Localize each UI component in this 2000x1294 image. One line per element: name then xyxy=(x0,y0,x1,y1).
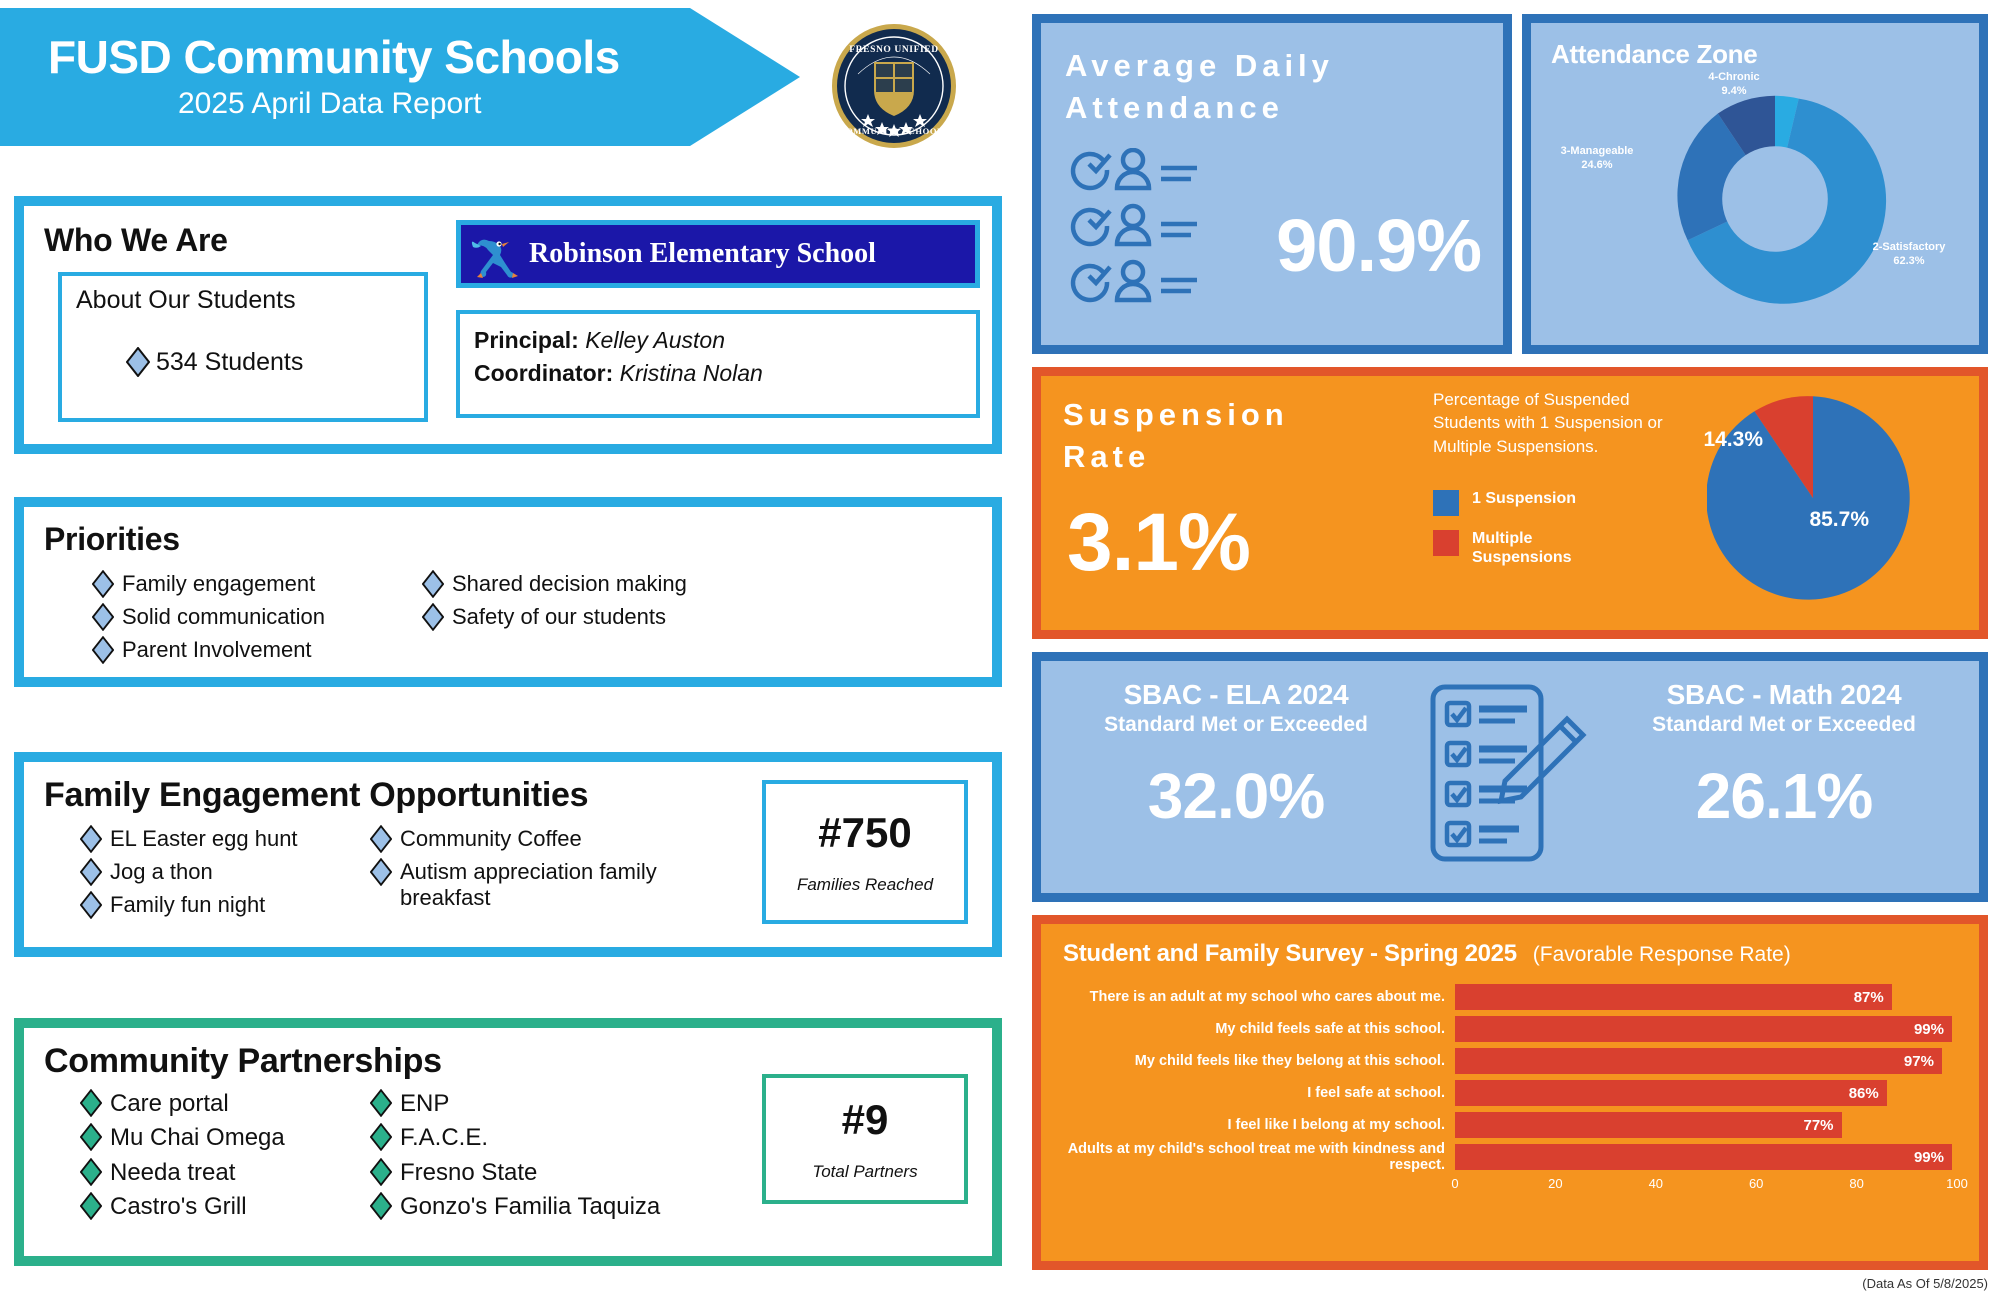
diamond-bullet-icon xyxy=(80,891,102,919)
axis-tick: 40 xyxy=(1649,1176,1663,1191)
attendance-zone-panel: Attendance Zone 4-Chronic 9.4% 3-Managea… xyxy=(1522,14,1988,354)
community-partnerships-card: Community Partnerships Care portal Mu Ch… xyxy=(14,1018,1002,1266)
ada-title-line2: Attendance xyxy=(1065,87,1479,129)
total-partners-number: #9 xyxy=(842,1096,889,1144)
survey-bar-value: 77% xyxy=(1804,1117,1834,1134)
family-engagement-col-2: Community Coffee Autism appreciation fam… xyxy=(370,825,700,924)
diamond-bullet-icon xyxy=(80,1192,102,1220)
list-item: ENP xyxy=(370,1089,730,1118)
list-item-label: Care portal xyxy=(110,1089,229,1118)
diamond-bullet-icon xyxy=(92,570,114,598)
survey-bar-value: 97% xyxy=(1904,1053,1934,1070)
list-item: Family fun night xyxy=(80,891,370,919)
zone-label-manageable: 3-Manageable 24.6% xyxy=(1541,145,1653,173)
diamond-bullet-icon xyxy=(422,570,444,598)
header-banner: FUSD Community Schools 2025 April Data R… xyxy=(0,8,800,146)
survey-question-label: My child feels safe at this school. xyxy=(1055,1021,1455,1037)
data-as-of-footnote: (Data As Of 5/8/2025) xyxy=(1862,1276,1988,1291)
about-our-students-label: About Our Students xyxy=(76,286,410,315)
survey-bar: 99% xyxy=(1455,1016,1952,1042)
diamond-bullet-icon xyxy=(92,636,114,664)
attendance-zone-title: Attendance Zone xyxy=(1551,39,1959,70)
suspension-description: Percentage of Suspended Students with 1 … xyxy=(1433,388,1683,458)
diamond-bullet-icon xyxy=(80,825,102,853)
partnerships-col-1: Care portal Mu Chai Omega Needa treat Ca… xyxy=(80,1089,370,1226)
list-item-label: Needa treat xyxy=(110,1158,235,1187)
list-item: EL Easter egg hunt xyxy=(80,825,370,853)
legend-swatch-1-suspension xyxy=(1433,490,1459,516)
suspension-rate-value: 3.1% xyxy=(1067,496,1250,590)
list-item: Mu Chai Omega xyxy=(80,1123,370,1152)
axis-tick: 60 xyxy=(1749,1176,1763,1191)
list-item-label: Mu Chai Omega xyxy=(110,1123,285,1152)
survey-bar: 97% xyxy=(1455,1048,1942,1074)
suspension-description-block: Percentage of Suspended Students with 1 … xyxy=(1433,388,1683,568)
survey-bar-track: 99% xyxy=(1455,1144,1957,1170)
survey-header: Student and Family Survey - Spring 2025 … xyxy=(1055,940,1957,968)
list-item-label: Gonzo's Familia Taquiza xyxy=(400,1192,660,1221)
principal-coordinator-box: Principal: Kelley Auston Coordinator: Kr… xyxy=(456,310,980,418)
list-item-label: Jog a thon xyxy=(110,858,213,885)
survey-bar-track: 86% xyxy=(1455,1080,1957,1106)
about-our-students-box: About Our Students 534 Students xyxy=(58,272,428,422)
sbac-math-block: SBAC - Math 2024 Standard Met or Exceede… xyxy=(1605,679,1963,833)
diamond-bullet-icon xyxy=(370,1089,392,1117)
diamond-bullet-icon xyxy=(80,1123,102,1151)
list-item-label: Shared decision making xyxy=(452,570,687,597)
principal-name: Kelley Auston xyxy=(585,327,725,353)
zone-value-manageable: 24.6% xyxy=(1541,159,1653,173)
suspension-pie-chart xyxy=(1707,392,1919,604)
zone-label-satisfactory: 2-Satisfactory 62.3% xyxy=(1849,241,1969,269)
survey-question-label: Adults at my child's school treat me wit… xyxy=(1055,1141,1455,1173)
list-item: Family engagement xyxy=(92,570,422,598)
zone-label-chronic: 4-Chronic 9.4% xyxy=(1679,71,1789,99)
list-item-label: Parent Involvement xyxy=(122,636,312,663)
list-item: Shared decision making xyxy=(422,570,752,598)
diamond-bullet-icon xyxy=(370,1192,392,1220)
survey-question-label: My child feels like they belong at this … xyxy=(1055,1053,1455,1069)
zone-label-manageable-text: 3-Manageable xyxy=(1541,145,1653,159)
legend-label-multiple-suspensions: Multiple Suspensions xyxy=(1472,530,1602,568)
diamond-bullet-icon xyxy=(370,1158,392,1186)
sbac-ela-title: SBAC - ELA 2024 xyxy=(1057,679,1415,711)
list-item-label: Family fun night xyxy=(110,891,265,918)
list-item: Castro's Grill xyxy=(80,1192,370,1221)
table-row: There is an adult at my school who cares… xyxy=(1055,984,1957,1010)
survey-bar-chart: There is an adult at my school who cares… xyxy=(1055,984,1957,1194)
coordinator-row: Coordinator: Kristina Nolan xyxy=(474,357,962,390)
list-item: Fresno State xyxy=(370,1158,730,1187)
survey-bar: 77% xyxy=(1455,1112,1842,1138)
student-count-item: 534 Students xyxy=(126,347,410,378)
table-row: My child feels like they belong at this … xyxy=(1055,1048,1957,1074)
roadrunner-mascot-icon xyxy=(471,233,525,285)
total-partners-label: Total Partners xyxy=(812,1162,917,1182)
attendance-checklist-icon xyxy=(1067,148,1227,328)
survey-bar-track: 97% xyxy=(1455,1048,1957,1074)
zone-value-satisfactory: 62.3% xyxy=(1849,255,1969,269)
list-item: Community Coffee xyxy=(370,825,700,853)
diamond-bullet-icon xyxy=(370,1123,392,1151)
legend-label-1-suspension: 1 Suspension xyxy=(1472,490,1576,509)
sbac-ela-value: 32.0% xyxy=(1057,759,1415,833)
sbac-math-value: 26.1% xyxy=(1605,759,1963,833)
list-item: Autism appreciation family breakfast xyxy=(370,858,700,911)
page-subtitle: 2025 April Data Report xyxy=(48,87,800,121)
list-item-label: Autism appreciation family breakfast xyxy=(400,858,690,911)
survey-bar-track: 87% xyxy=(1455,984,1957,1010)
list-item-label: ENP xyxy=(400,1089,449,1118)
who-we-are-card: Who We Are About Our Students 534 Studen… xyxy=(14,196,1002,454)
survey-bar-value: 87% xyxy=(1854,989,1884,1006)
sbac-math-title: SBAC - Math 2024 xyxy=(1605,679,1963,711)
survey-bar-track: 99% xyxy=(1455,1016,1957,1042)
diamond-bullet-icon xyxy=(422,603,444,631)
fusd-seal-logo: FRESNO UNIFIED COMMUNITY SCHOOLS xyxy=(830,22,958,150)
survey-bar-value: 99% xyxy=(1914,1021,1944,1038)
school-name-banner: Robinson Elementary School xyxy=(456,220,980,288)
survey-panel: Student and Family Survey - Spring 2025 … xyxy=(1032,915,1988,1270)
suspension-legend-item-2: Multiple Suspensions xyxy=(1433,530,1683,568)
average-daily-attendance-panel: Average Daily Attendance xyxy=(1032,14,1512,354)
principal-label: Principal: xyxy=(474,327,579,353)
zone-value-chronic: 9.4% xyxy=(1679,85,1789,99)
table-row: I feel safe at school. 86% xyxy=(1055,1080,1957,1106)
axis-tick: 80 xyxy=(1849,1176,1863,1191)
survey-question-label: I feel like I belong at my school. xyxy=(1055,1117,1455,1133)
total-partners-stat-box: #9 Total Partners xyxy=(762,1074,968,1204)
legend-swatch-multiple-suspensions xyxy=(1433,530,1459,556)
list-item: Needa treat xyxy=(80,1158,370,1187)
families-reached-label: Families Reached xyxy=(797,875,933,895)
list-item-label: Community Coffee xyxy=(400,825,582,852)
list-item-label: Safety of our students xyxy=(452,603,666,630)
page-title: FUSD Community Schools xyxy=(48,33,800,81)
list-item: Solid communication xyxy=(92,603,422,631)
school-name: Robinson Elementary School xyxy=(529,238,876,270)
coordinator-label: Coordinator: xyxy=(474,360,613,386)
infographic-page: FUSD Community Schools 2025 April Data R… xyxy=(0,0,2000,1294)
pie-label-1-suspension: 85.7% xyxy=(1809,508,1869,532)
survey-bar: 87% xyxy=(1455,984,1892,1010)
diamond-bullet-icon xyxy=(80,858,102,886)
axis-tick: 0 xyxy=(1451,1176,1458,1191)
survey-subtitle: (Favorable Response Rate) xyxy=(1533,943,1791,967)
priorities-card: Priorities Family engagement Solid commu… xyxy=(14,497,1002,687)
table-row: Adults at my child's school treat me wit… xyxy=(1055,1144,1957,1170)
diamond-bullet-icon xyxy=(80,1089,102,1117)
sbac-math-subtitle: Standard Met or Exceeded xyxy=(1605,713,1963,737)
sbac-ela-subtitle: Standard Met or Exceeded xyxy=(1057,713,1415,737)
partnerships-col-2: ENP F.A.C.E. Fresno State Gonzo's Famili… xyxy=(370,1089,730,1226)
list-item: Jog a thon xyxy=(80,858,370,886)
list-item: F.A.C.E. xyxy=(370,1123,730,1152)
survey-question-label: There is an adult at my school who cares… xyxy=(1055,989,1455,1005)
axis-tick: 100 xyxy=(1946,1176,1968,1191)
suspension-rate-panel: Suspension Rate 3.1% Percentage of Suspe… xyxy=(1032,367,1988,639)
priorities-heading: Priorities xyxy=(44,521,972,558)
families-reached-stat-box: #750 Families Reached xyxy=(762,780,968,924)
diamond-bullet-icon xyxy=(370,825,392,853)
clipboard-checklist-icon xyxy=(1415,681,1605,866)
priorities-col-1: Family engagement Solid communication Pa… xyxy=(92,570,422,669)
ada-value: 90.9% xyxy=(1276,203,1481,288)
survey-bar-value: 86% xyxy=(1849,1085,1879,1102)
survey-bar: 86% xyxy=(1455,1080,1887,1106)
diamond-bullet-icon xyxy=(80,1158,102,1186)
families-reached-number: #750 xyxy=(818,809,911,857)
survey-bar: 99% xyxy=(1455,1144,1952,1170)
attendance-zone-donut-chart xyxy=(1655,79,1895,319)
survey-bar-track: 77% xyxy=(1455,1112,1957,1138)
priorities-col-2: Shared decision making Safety of our stu… xyxy=(422,570,752,669)
list-item-label: F.A.C.E. xyxy=(400,1123,488,1152)
list-item: Care portal xyxy=(80,1089,370,1118)
diamond-bullet-icon xyxy=(370,858,392,886)
table-row: I feel like I belong at my school. 77% xyxy=(1055,1112,1957,1138)
table-row: My child feels safe at this school. 99% xyxy=(1055,1016,1957,1042)
ada-title-line1: Average Daily xyxy=(1065,45,1479,87)
family-engagement-card: Family Engagement Opportunities EL Easte… xyxy=(14,752,1002,957)
svg-text:FRESNO UNIFIED: FRESNO UNIFIED xyxy=(849,45,938,55)
zone-label-satisfactory-text: 2-Satisfactory xyxy=(1849,241,1969,255)
list-item: Gonzo's Familia Taquiza xyxy=(370,1192,730,1221)
list-item-label: EL Easter egg hunt xyxy=(110,825,298,852)
list-item-label: Family engagement xyxy=(122,570,315,597)
sbac-panel: SBAC - ELA 2024 Standard Met or Exceeded… xyxy=(1032,652,1988,902)
list-item-label: Castro's Grill xyxy=(110,1192,247,1221)
suspension-legend-item-1: 1 Suspension xyxy=(1433,490,1683,516)
survey-bar-value: 99% xyxy=(1914,1149,1944,1166)
pie-label-multiple-suspensions: 14.3% xyxy=(1703,428,1763,452)
sbac-ela-block: SBAC - ELA 2024 Standard Met or Exceeded… xyxy=(1057,679,1415,833)
diamond-bullet-icon xyxy=(126,347,148,375)
list-item: Parent Involvement xyxy=(92,636,422,664)
list-item-label: Fresno State xyxy=(400,1158,537,1187)
survey-title: Student and Family Survey - Spring 2025 xyxy=(1063,940,1517,968)
student-count-label: 534 Students xyxy=(156,347,303,378)
principal-row: Principal: Kelley Auston xyxy=(474,324,962,357)
axis-tick: 20 xyxy=(1548,1176,1562,1191)
list-item-label: Solid communication xyxy=(122,603,325,630)
zone-label-chronic-text: 4-Chronic xyxy=(1679,71,1789,85)
family-engagement-col-1: EL Easter egg hunt Jog a thon Family fun… xyxy=(80,825,370,924)
coordinator-name: Kristina Nolan xyxy=(620,360,763,386)
diamond-bullet-icon xyxy=(92,603,114,631)
survey-question-label: I feel safe at school. xyxy=(1055,1085,1455,1101)
survey-x-axis: 0 20 40 60 80 100 xyxy=(1455,1176,1957,1194)
list-item: Safety of our students xyxy=(422,603,752,631)
